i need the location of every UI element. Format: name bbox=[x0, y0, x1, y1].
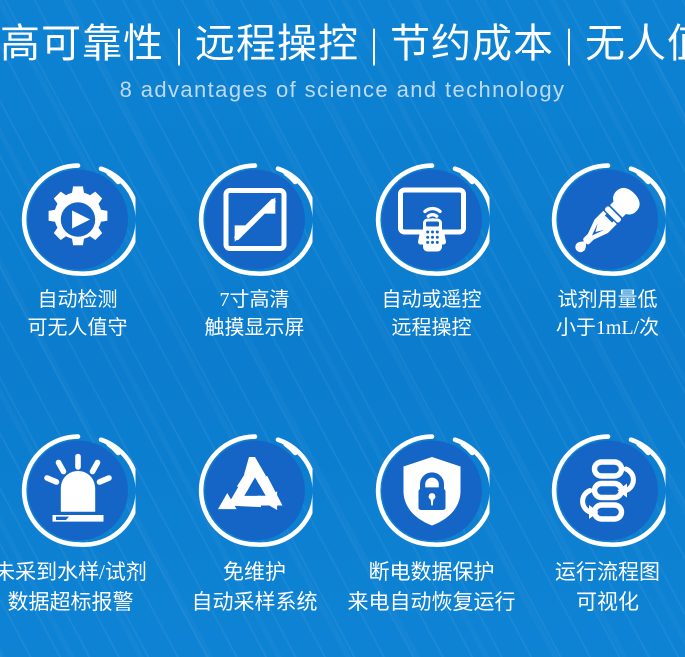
flowchart-icon bbox=[550, 433, 665, 548]
advantage-caption-6: 免维护 自动采样系统 bbox=[169, 557, 340, 617]
advantage-caption-4: 试剂用量低 小于1mL/次 bbox=[522, 286, 685, 342]
poster-header: 高可靠性 | 远程操控 | 节约成本 | 无人值守 8 advantages o… bbox=[0, 0, 685, 120]
advantage-caption-2: 7寸高清 触摸显示屏 bbox=[169, 286, 340, 342]
tv-remote-wifi-icon bbox=[374, 162, 489, 277]
siren-alarm-icon bbox=[20, 433, 135, 548]
dropper-icon bbox=[550, 162, 665, 277]
expand-arrows-icon bbox=[197, 162, 312, 277]
advantage-caption-3: 自动或遥控 远程操控 bbox=[346, 286, 517, 342]
shield-lock-icon bbox=[374, 433, 489, 548]
gear-play-icon bbox=[20, 162, 135, 277]
recycle-icon bbox=[197, 433, 312, 548]
advantage-caption-7: 断电数据保护 来电自动恢复运行 bbox=[346, 557, 517, 617]
advantage-caption-8: 运行流程图 可视化 bbox=[522, 557, 685, 617]
page-subtitle: 8 advantages of science and technology bbox=[0, 76, 685, 104]
advantage-caption-1: 自动检测 可无人值守 bbox=[0, 286, 163, 342]
page-title: 高可靠性 | 远程操控 | 节约成本 | 无人值守 bbox=[0, 18, 685, 70]
poster-canvas: 高可靠性 | 远程操控 | 节约成本 | 无人值守 8 advantages o… bbox=[0, 0, 685, 657]
advantage-caption-5: 未采到水样/试剂 数据超标报警 bbox=[0, 557, 156, 617]
